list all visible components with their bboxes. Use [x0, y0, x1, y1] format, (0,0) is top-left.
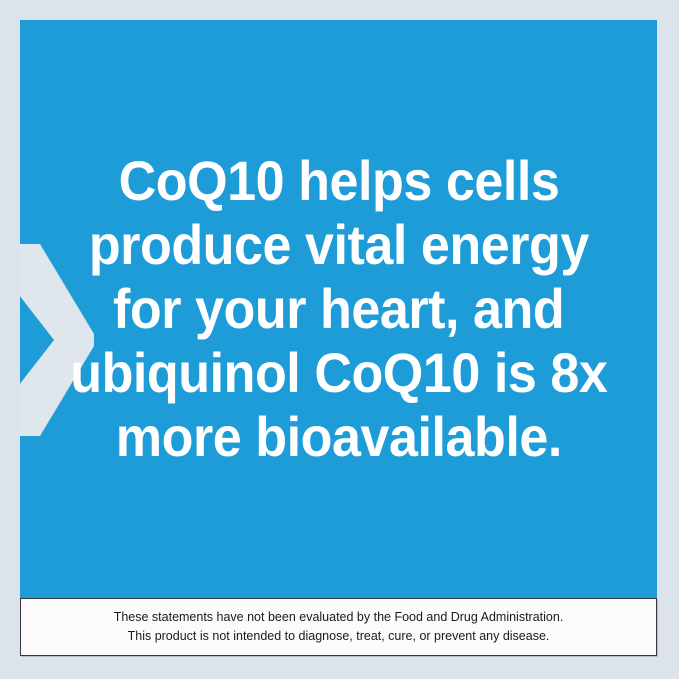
headline-line-4: ubiquinol CoQ10 is 8x	[70, 341, 607, 405]
disclaimer-line-2: This product is not intended to diagnose…	[128, 627, 550, 646]
promo-card: CoQ10 helps cells produce vital energy f…	[20, 20, 657, 656]
disclaimer-box: These statements have not been evaluated…	[20, 598, 657, 656]
hero-panel: CoQ10 helps cells produce vital energy f…	[20, 20, 657, 598]
headline-line-2: produce vital energy	[88, 213, 588, 277]
headline-line-5: more bioavailable.	[115, 405, 561, 469]
headline-line-1: CoQ10 helps cells	[118, 149, 559, 213]
headline-line-3: for your heart, and	[113, 277, 564, 341]
headline: CoQ10 helps cells produce vital energy f…	[20, 20, 657, 598]
disclaimer-line-1: These statements have not been evaluated…	[114, 608, 564, 627]
